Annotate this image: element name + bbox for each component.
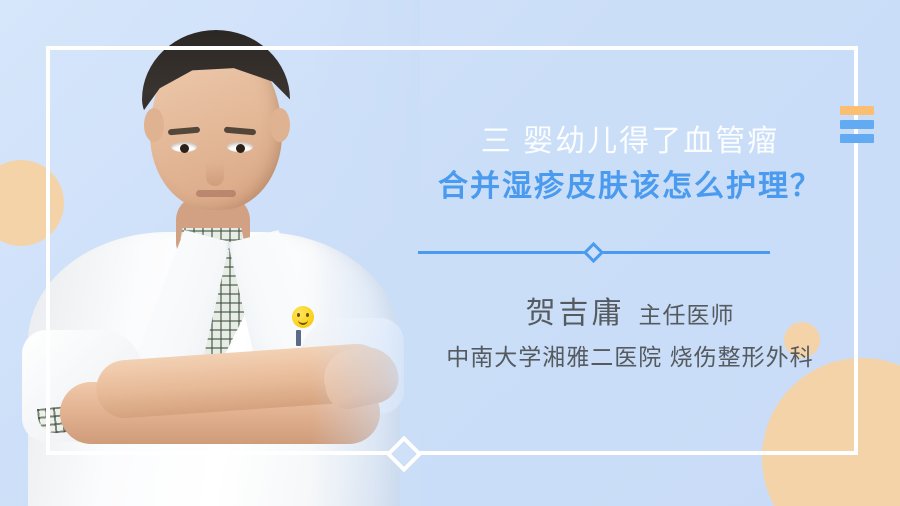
video-thumbnail-card: 三 婴幼儿得了血管瘤 合并湿疹皮肤该怎么护理？ 贺吉庸主任医师 中南大学湘雅二医…	[0, 0, 900, 506]
doctor-info-block: 贺吉庸主任医师 中南大学湘雅二医院 烧伤整形外科	[400, 292, 860, 377]
divider-diamond-icon	[583, 242, 604, 263]
portrait-edge-fade	[0, 0, 420, 506]
doctor-affiliation: 中南大学湘雅二医院 烧伤整形外科	[400, 337, 860, 377]
title-line-1: 三 婴幼儿得了血管瘤	[400, 120, 860, 164]
doctor-rank: 主任医师	[639, 302, 735, 328]
title-line-2: 合并湿疹皮肤该怎么护理？	[400, 164, 860, 210]
doctor-name: 贺吉庸	[526, 297, 625, 330]
circle-right-large-peach	[762, 358, 900, 506]
title-block: 三 婴幼儿得了血管瘤 合并湿疹皮肤该怎么护理？	[400, 120, 860, 210]
deco-bar-orange	[840, 106, 874, 115]
doctor-portrait	[0, 0, 420, 506]
doctor-name-row: 贺吉庸主任医师	[400, 292, 860, 337]
